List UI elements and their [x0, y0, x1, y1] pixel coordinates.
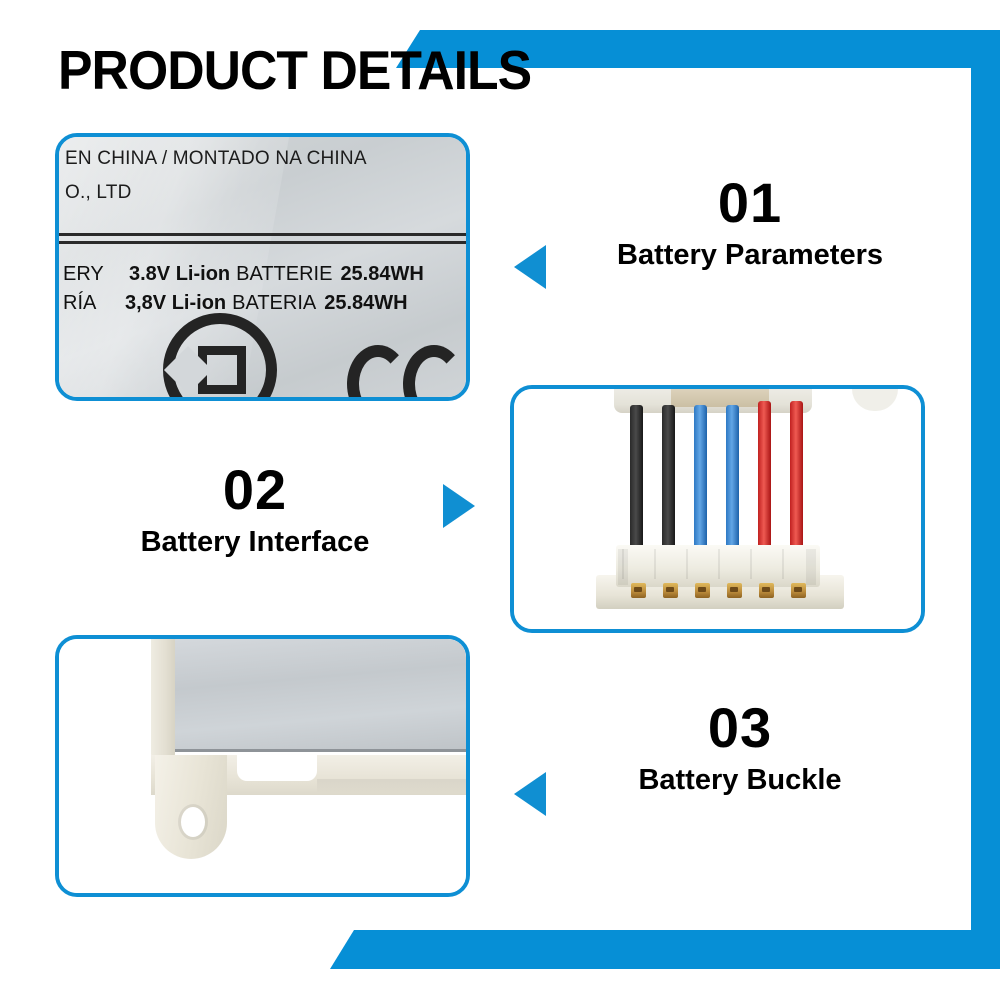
ce-glyph-c — [347, 345, 409, 401]
connector-wires-photo — [514, 389, 921, 629]
connector-pin-1 — [631, 583, 646, 598]
battery-edge-tab — [852, 385, 898, 411]
battery-label-photo: EN CHINA / MONTADO NA CHINA O., LTD ERY3… — [59, 137, 466, 397]
battery-label-photo-card: EN CHINA / MONTADO NA CHINA O., LTD ERY3… — [55, 133, 470, 401]
connector-pin-5 — [759, 583, 774, 598]
wire-black-1 — [630, 405, 643, 549]
battery-metal-plate — [171, 635, 470, 752]
connector-pin-2 — [663, 583, 678, 598]
label-spec-row-spanish: RÍA3,8V Li-ionBATERIA25.84WH — [63, 292, 408, 315]
connector-housing-ridges — [622, 549, 814, 579]
step-03-block: 03 Battery Buckle — [610, 700, 870, 797]
ce-glyph-e — [403, 345, 465, 401]
spec-en-voltage: 3.8V Li-ion — [129, 263, 230, 286]
wire-red-2 — [790, 401, 803, 549]
buckle-frame-left — [151, 635, 175, 757]
decorative-right-bar — [971, 68, 1000, 955]
label-spec-row-english: ERY3.8V Li-ionBATTERIE25.84WH — [63, 263, 424, 286]
step-03-number: 03 — [610, 700, 870, 756]
decorative-bottom-bar — [330, 930, 1000, 969]
buckle-notch-cutout — [237, 755, 317, 781]
spec-es-capacity: 25.84WH — [324, 292, 407, 315]
step-03-label: Battery Buckle — [610, 764, 870, 797]
arrow-left-icon-03 — [514, 772, 546, 816]
connector-pin-6 — [791, 583, 806, 598]
label-company-text: O., LTD — [65, 182, 132, 204]
ce-mark-icon — [347, 345, 467, 401]
connector-notch-right — [806, 549, 816, 585]
battery-edge-tape — [671, 385, 769, 407]
connector-pin-4 — [727, 583, 742, 598]
spec-es-word: BATERIA — [232, 292, 316, 315]
wire-blue-1 — [694, 405, 707, 549]
product-details-page: PRODUCT DETAILS EN CHINA / MONTADO NA CH… — [0, 0, 1000, 1000]
buckle-screw-hole — [181, 807, 205, 837]
label-divider-lower — [59, 241, 466, 244]
battery-buckle-photo-card — [55, 635, 470, 897]
spec-en-word: BATTERIE — [236, 263, 332, 286]
spec-es-voltage: 3,8V Li-ion — [125, 292, 226, 315]
battery-interface-photo-card — [510, 385, 925, 633]
battery-buckle-photo — [59, 639, 466, 893]
arrow-right-icon-02 — [443, 484, 475, 528]
step-01-number: 01 — [585, 175, 915, 231]
step-02-label: Battery Interface — [110, 526, 400, 559]
step-01-block: 01 Battery Parameters — [585, 175, 915, 272]
step-02-number: 02 — [110, 462, 400, 518]
connector-housing — [616, 545, 820, 587]
wire-red-1 — [758, 401, 771, 549]
wire-black-2 — [662, 405, 675, 549]
label-divider-upper — [59, 233, 466, 236]
connector-pin-3 — [695, 583, 710, 598]
spec-en-name: ERY — [63, 263, 129, 286]
step-01-label: Battery Parameters — [585, 239, 915, 272]
page-title: PRODUCT DETAILS — [58, 38, 531, 102]
step-02-block: 02 Battery Interface — [110, 462, 400, 559]
spec-en-capacity: 25.84WH — [340, 263, 423, 286]
spec-es-name: RÍA — [63, 292, 125, 315]
connector-notch-left — [618, 549, 628, 585]
buckle-body-shadow — [317, 779, 470, 793]
label-origin-text: EN CHINA / MONTADO NA CHINA — [65, 148, 367, 170]
wire-blue-2 — [726, 405, 739, 549]
arrow-left-icon-01 — [514, 245, 546, 289]
